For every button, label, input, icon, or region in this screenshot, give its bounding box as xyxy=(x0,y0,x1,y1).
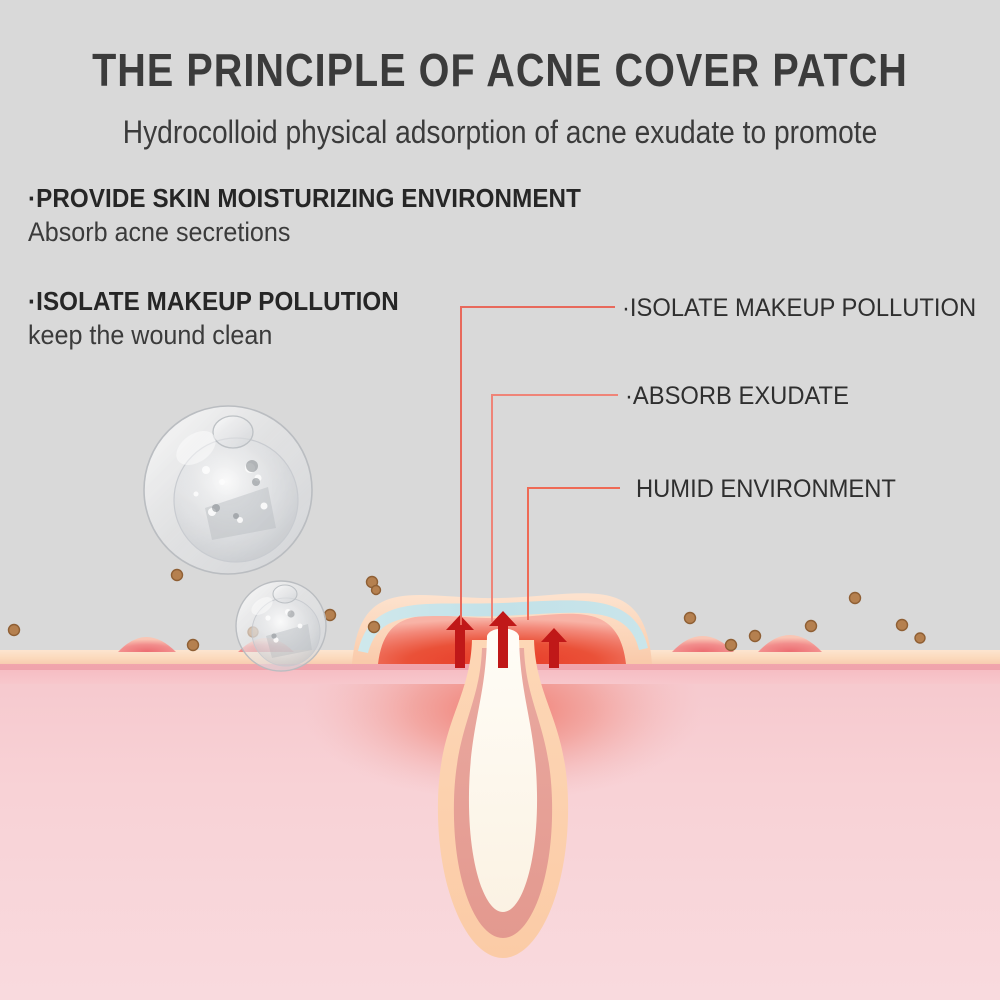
feature-description: keep the wound clean xyxy=(28,317,399,353)
callout-label-humid-environment: HUMID ENVIRONMENT xyxy=(636,474,896,504)
skin-bump xyxy=(672,636,734,652)
infographic-canvas: THE PRINCIPLE OF ACNE COVER PATCH Hydroc… xyxy=(0,0,1000,1000)
pollution-particle xyxy=(172,570,183,581)
pollution-particle xyxy=(325,610,336,621)
leader-line-isolate xyxy=(461,307,615,625)
pollution-particle xyxy=(915,633,925,643)
page-title: THE PRINCIPLE OF ACNE COVER PATCH xyxy=(70,44,930,96)
leader-line-group xyxy=(461,307,620,625)
pollution-particle xyxy=(9,625,20,636)
pollution-particle xyxy=(188,640,199,651)
feature-description: Absorb acne secretions xyxy=(28,214,581,250)
callout-label-absorb-exudate: ·ABSORB EXUDATE xyxy=(625,381,849,411)
pollution-particle xyxy=(369,622,380,633)
pollution-particle xyxy=(726,640,737,651)
pollution-particle xyxy=(750,631,761,642)
skin-bump xyxy=(758,635,822,652)
pollution-particle xyxy=(372,586,381,595)
pollution-particle xyxy=(685,613,696,624)
pollution-particle xyxy=(897,620,908,631)
pollution-particle xyxy=(806,621,817,632)
callout-label-isolate-makeup-pollution: ·ISOLATE MAKEUP POLLUTION xyxy=(622,293,976,323)
feature-block-moisturizing: ·PROVIDE SKIN MOISTURIZING ENVIRONMENT A… xyxy=(28,182,623,250)
feature-heading: ·ISOLATE MAKEUP POLLUTION xyxy=(28,285,399,317)
page-subtitle: Hydrocolloid physical adsorption of acne… xyxy=(60,112,940,152)
large-water-droplet xyxy=(144,406,312,574)
pollution-particle xyxy=(850,593,861,604)
leader-line-absorb xyxy=(492,395,618,622)
feature-heading: ·PROVIDE SKIN MOISTURIZING ENVIRONMENT xyxy=(28,182,581,214)
feature-block-isolate: ·ISOLATE MAKEUP POLLUTION keep the wound… xyxy=(28,285,427,353)
skin-bump xyxy=(118,637,176,652)
small-water-droplet xyxy=(236,581,326,671)
